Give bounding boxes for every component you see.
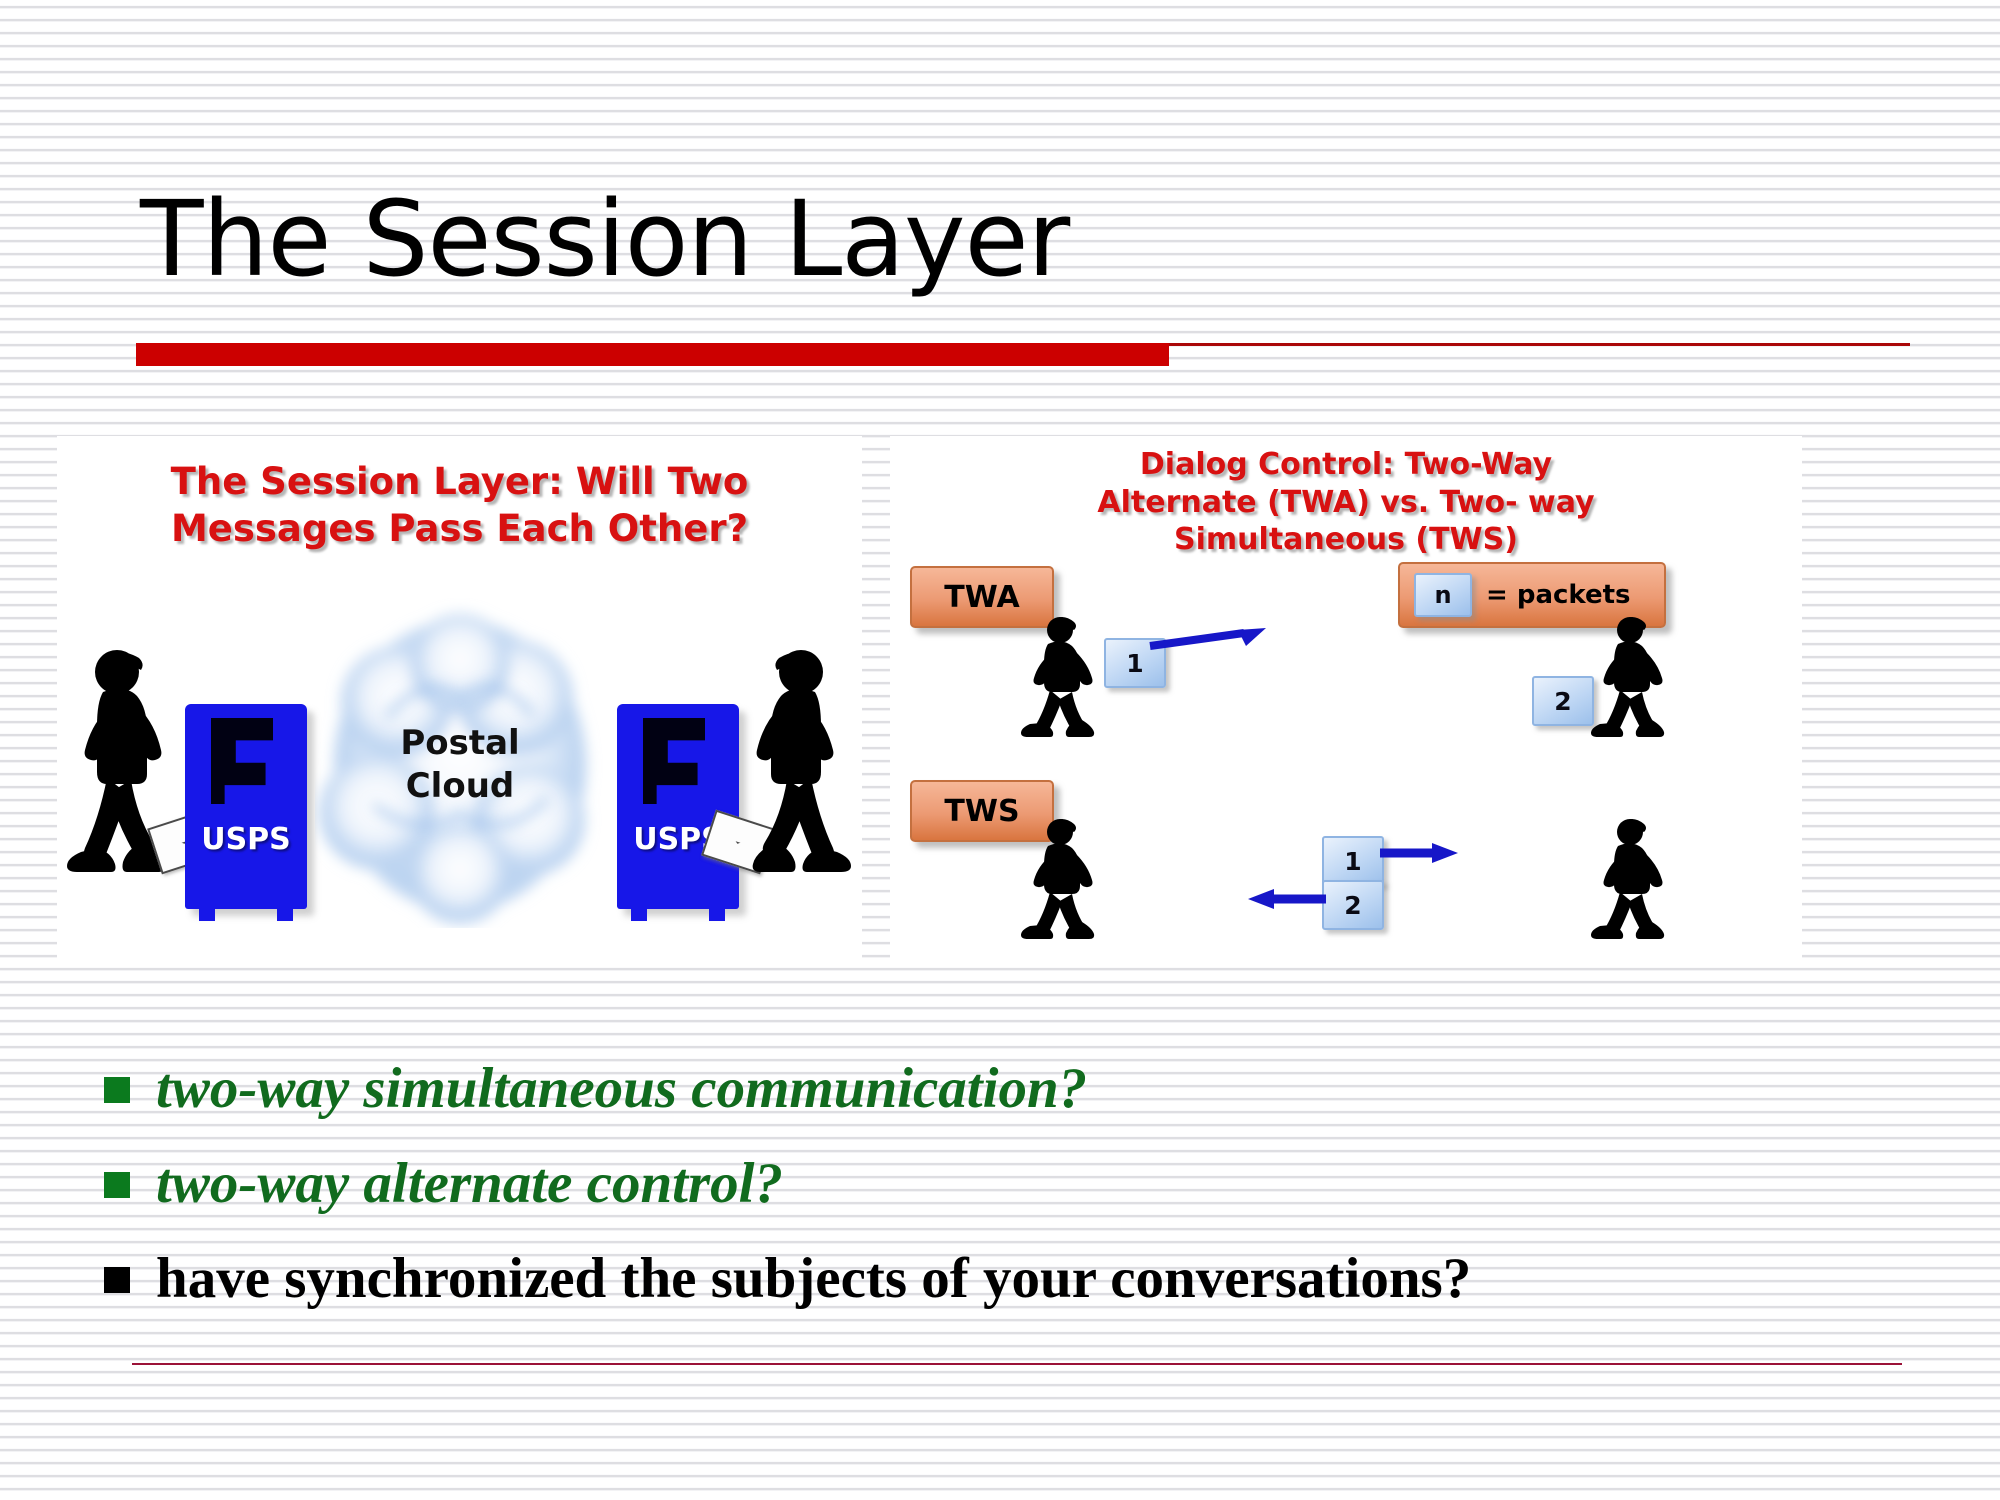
twa-person-right-icon [1590, 614, 1686, 746]
twa-arrow-right-icon [1148, 628, 1266, 650]
title-divider-thin-line [1169, 343, 1910, 346]
bullet-item-3: have synchronized the subjects of your c… [104, 1250, 1904, 1307]
usps-mailbox-left-label: USPS [185, 822, 307, 857]
bullet-item-1-label: two-way simultaneous communication? [156, 1060, 1087, 1117]
postal-cloud-heading: The Session Layer: Will Two Messages Pas… [57, 458, 862, 553]
dialog-control-illustration: TWA n = packets [890, 554, 1802, 966]
usps-mailbox-left-legs [195, 907, 297, 921]
postal-cloud-shape: Postal Cloud [315, 598, 605, 928]
tws-packet-1: 1 [1322, 836, 1384, 886]
postal-cloud-heading-line2: Messages Pass Each Other? [171, 507, 748, 550]
bullet-square-icon [104, 1267, 130, 1293]
person-silhouette-right-icon [733, 646, 853, 896]
dialog-control-heading-line3: Simultaneous (TWS) [1174, 522, 1518, 557]
bullet-item-1: two-way simultaneous communication? [104, 1060, 1904, 1117]
dialog-control-heading-line2: Alternate (TWA) vs. Two- way [1097, 485, 1594, 520]
usps-mailbox-right: USPS [617, 704, 739, 909]
page-title: The Session Layer [140, 185, 1069, 294]
postal-cloud-label-line2: Cloud [406, 766, 515, 806]
legend-packet-swatch: n [1414, 573, 1472, 617]
twa-person-left-icon [1020, 614, 1116, 746]
bullet-square-icon [104, 1172, 130, 1198]
bullet-item-2: two-way alternate control? [104, 1155, 1904, 1212]
tws-person-left-icon [1020, 816, 1116, 948]
postal-cloud-illustration: USPS [57, 586, 862, 956]
postal-cloud-label: Postal Cloud [315, 722, 605, 807]
tws-arrow-right-icon [1380, 842, 1458, 864]
dialog-control-panel: Dialog Control: Two-Way Alternate (TWA) … [890, 436, 1802, 966]
tws-person-right-icon [1590, 816, 1686, 948]
legend-packet-text: = packets [1486, 580, 1631, 610]
title-divider [136, 340, 1910, 366]
bullet-item-2-label: two-way alternate control? [156, 1155, 783, 1212]
bullet-square-icon [104, 1077, 130, 1103]
postal-cloud-panel: The Session Layer: Will Two Messages Pas… [57, 436, 862, 966]
tws-arrow-left-icon [1248, 888, 1326, 910]
footer-divider [132, 1363, 1902, 1365]
title-divider-thick-bar [136, 343, 1169, 366]
dialog-control-heading-line1: Dialog Control: Two-Way [1140, 447, 1552, 482]
bullet-item-3-label: have synchronized the subjects of your c… [156, 1250, 1471, 1307]
usps-mailbox-right-legs [627, 907, 729, 921]
postal-cloud-label-line1: Postal [400, 723, 519, 763]
bullet-list: two-way simultaneous communication? two-… [104, 1060, 1904, 1345]
postal-cloud-heading-line1: The Session Layer: Will Two [171, 460, 749, 503]
figure-area: The Session Layer: Will Two Messages Pas… [57, 436, 1802, 966]
usps-mailbox-left: USPS [185, 704, 307, 909]
dialog-control-heading: Dialog Control: Two-Way Alternate (TWA) … [890, 446, 1802, 559]
twa-packet-2: 2 [1532, 676, 1594, 726]
tws-packet-2: 2 [1322, 880, 1384, 930]
slide-canvas: The Session Layer The Session Layer: Wil… [0, 0, 2000, 1500]
